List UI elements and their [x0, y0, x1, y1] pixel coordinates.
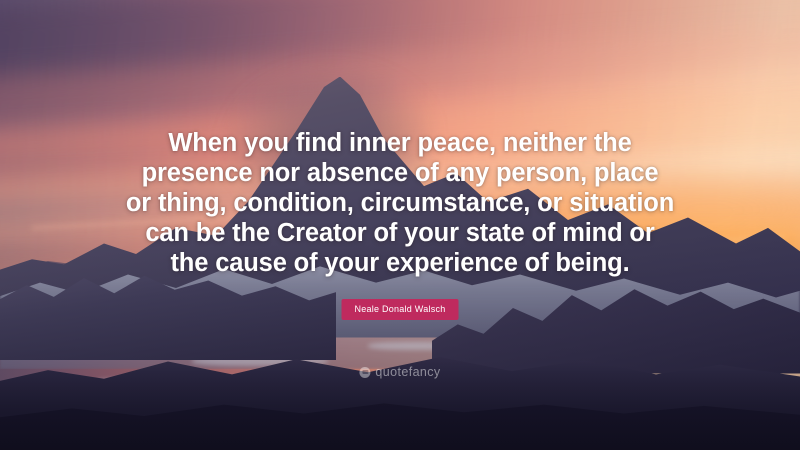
quotefancy-logo-icon — [359, 367, 370, 378]
quote-line: the cause of your experience of being. — [0, 248, 800, 278]
quote-line: or thing, condition, circumstance, or si… — [0, 188, 800, 218]
quote-line: presence nor absence of any person, plac… — [0, 158, 800, 188]
watermark-label: quotefancy — [375, 365, 440, 379]
quote-poster: When you find inner peace, neither the p… — [0, 0, 800, 450]
author-badge[interactable]: Neale Donald Walsch — [342, 299, 459, 320]
watermark[interactable]: quotefancy — [359, 365, 440, 379]
quote-line: When you find inner peace, neither the — [0, 128, 800, 158]
quote-line: can be the Creator of your state of mind… — [0, 218, 800, 248]
quote-text: When you find inner peace, neither the p… — [0, 128, 800, 278]
